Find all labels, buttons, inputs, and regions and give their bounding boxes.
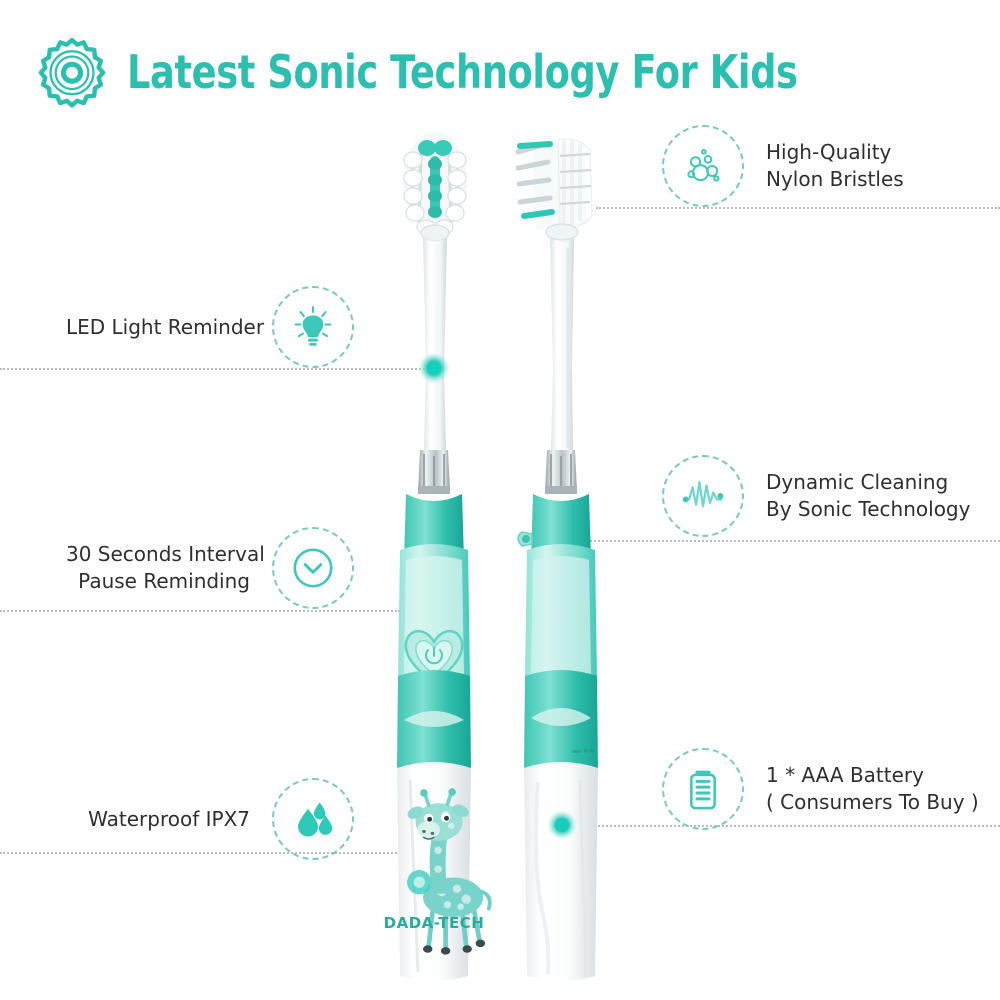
brand-text: DADA-TECH <box>384 914 485 932</box>
feature-line-2: Pause Reminding <box>66 568 250 595</box>
feature-label: LED Light Reminder <box>66 314 250 341</box>
battery-icon <box>662 748 744 830</box>
feature-label: High-Quality Nylon Bristles <box>766 139 904 193</box>
lightbulb-icon <box>272 286 354 368</box>
page-header: Latest Sonic Technology For Kids <box>0 26 1000 118</box>
feature-label: Dynamic Cleaning By Sonic Technology <box>766 469 970 523</box>
connector-line-pause <box>0 610 400 612</box>
feature-label: 1 * AAA Battery ( Consumers To Buy ) <box>766 762 979 816</box>
product-illustration: DADA-TECH <box>380 120 660 980</box>
feature-line-2: ( Consumers To Buy ) <box>766 789 979 816</box>
feature-pause-reminding: 30 Seconds Interval Pause Reminding <box>66 527 354 609</box>
feature-led-light: LED Light Reminder <box>66 286 354 368</box>
feature-waterproof: Waterproof IPX7 <box>66 778 354 860</box>
feature-line-1: Waterproof IPX7 <box>88 807 250 831</box>
feature-line-1: LED Light Reminder <box>66 315 264 339</box>
feature-line-1: 30 Seconds Interval <box>66 542 265 566</box>
toothbrush-front-view: DADA-TECH <box>384 132 490 980</box>
infographic-canvas: Latest Sonic Technology For Kids <box>0 0 1000 1000</box>
feature-line-1: High-Quality <box>766 140 891 164</box>
feature-line-2: Nylon Bristles <box>766 166 904 193</box>
feature-label: Waterproof IPX7 <box>66 806 250 833</box>
feature-line-1: Dynamic Cleaning <box>766 470 948 494</box>
sound-wave-icon <box>662 455 744 537</box>
feature-line-2: By Sonic Technology <box>766 496 970 523</box>
gear-icon <box>35 35 109 109</box>
chevron-down-circle-icon <box>272 527 354 609</box>
feature-dynamic-cleaning: Dynamic Cleaning By Sonic Technology <box>662 455 970 537</box>
feature-nylon-bristles: High-Quality Nylon Bristles <box>662 125 904 207</box>
feature-battery: 1 * AAA Battery ( Consumers To Buy ) <box>662 748 979 830</box>
connector-line-led <box>0 368 432 370</box>
feature-label: 30 Seconds Interval Pause Reminding <box>66 541 250 595</box>
bubbles-icon <box>662 125 744 207</box>
feature-line-1: 1 * AAA Battery <box>766 763 924 787</box>
water-drops-icon <box>272 778 354 860</box>
toothbrush-side-view <box>518 139 598 980</box>
page-title: Latest Sonic Technology For Kids <box>127 49 798 95</box>
